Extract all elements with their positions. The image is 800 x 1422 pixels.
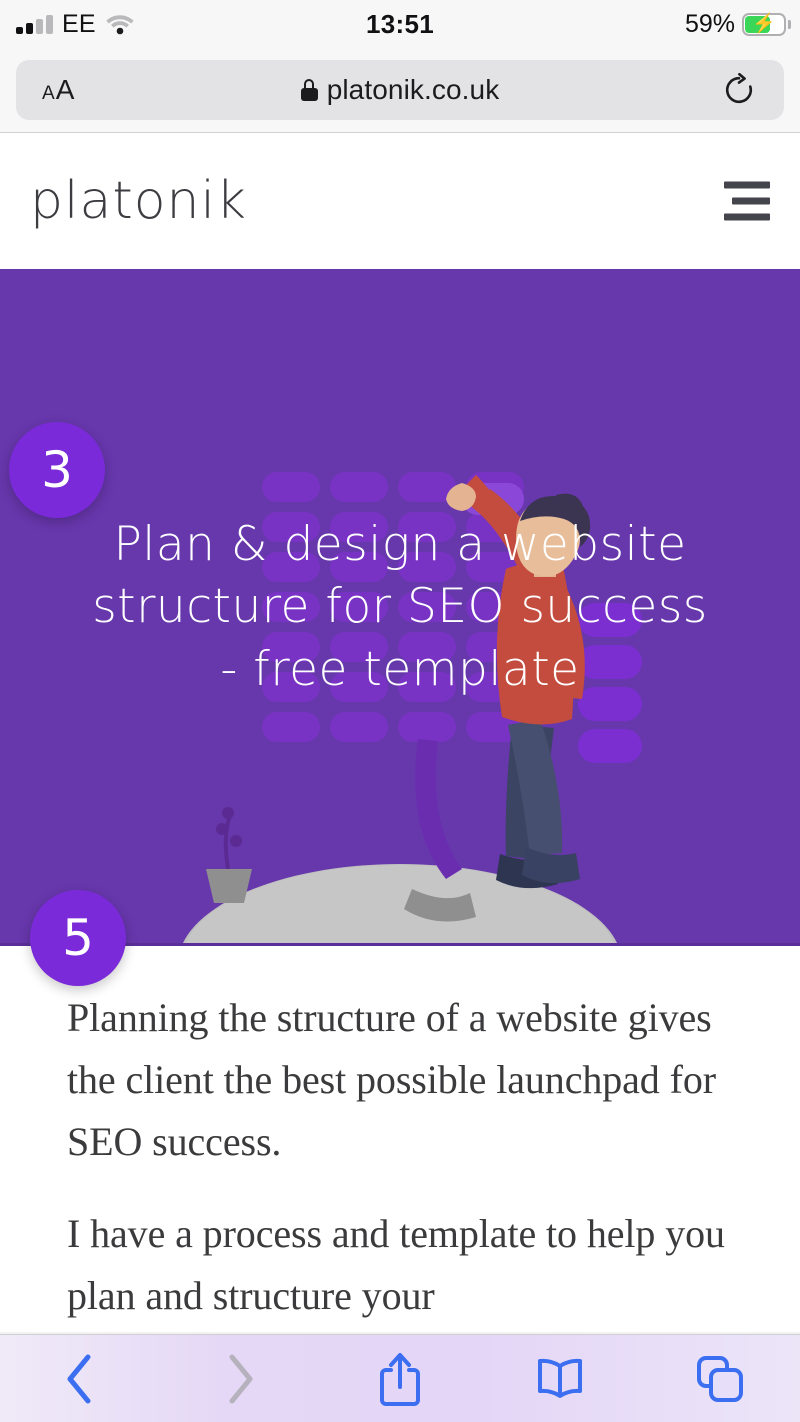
- article-paragraph: Planning the structure of a website give…: [67, 987, 732, 1173]
- url-display[interactable]: platonik.co.uk: [16, 74, 784, 106]
- book-icon: [534, 1356, 586, 1402]
- mobile-safari-screen: EE 13:51 59% ⚡ A A: [0, 0, 800, 1422]
- article-paragraph: I have a process and template to help yo…: [67, 1203, 732, 1327]
- lock-icon: [301, 79, 318, 101]
- share-icon: [376, 1351, 424, 1407]
- step-badge-5-label: 5: [62, 909, 94, 967]
- bookmarks-button[interactable]: [512, 1335, 608, 1422]
- status-bar-right: 59% ⚡: [685, 0, 786, 48]
- reload-icon[interactable]: [722, 73, 756, 107]
- forward-button[interactable]: [192, 1335, 288, 1422]
- url-bar[interactable]: A A platonik.co.uk: [16, 60, 784, 120]
- tabs-button[interactable]: [672, 1335, 768, 1422]
- chevron-left-icon: [63, 1353, 97, 1405]
- step-badge-5[interactable]: 5: [30, 890, 126, 986]
- site-logo[interactable]: platonik: [30, 171, 247, 231]
- share-button[interactable]: [352, 1335, 448, 1422]
- url-text: platonik.co.uk: [327, 74, 500, 106]
- site-header: platonik: [0, 133, 800, 269]
- battery-icon: ⚡: [742, 13, 786, 36]
- text-size-button[interactable]: A A: [42, 74, 74, 106]
- hamburger-menu-icon[interactable]: [724, 182, 770, 221]
- step-badge-3[interactable]: 3: [9, 422, 105, 518]
- charging-bolt-icon: ⚡: [752, 15, 776, 34]
- clock-label: 13:51: [0, 0, 800, 48]
- article-body: Planning the structure of a website give…: [0, 949, 800, 1334]
- browser-url-bar-container: A A platonik.co.uk: [0, 48, 800, 133]
- hero-title: Plan & design a website structure for SE…: [0, 269, 800, 946]
- back-button[interactable]: [32, 1335, 128, 1422]
- status-bar: EE 13:51 59% ⚡: [0, 0, 800, 48]
- text-size-small-a: A: [42, 83, 55, 105]
- browser-bottom-toolbar: [0, 1334, 800, 1422]
- text-size-large-a: A: [56, 74, 75, 106]
- tabs-icon: [695, 1354, 745, 1404]
- step-badge-3-label: 3: [41, 441, 73, 499]
- chevron-right-icon: [223, 1353, 257, 1405]
- hero-banner: Plan & design a website structure for SE…: [0, 269, 800, 946]
- battery-percent-label: 59%: [685, 10, 735, 39]
